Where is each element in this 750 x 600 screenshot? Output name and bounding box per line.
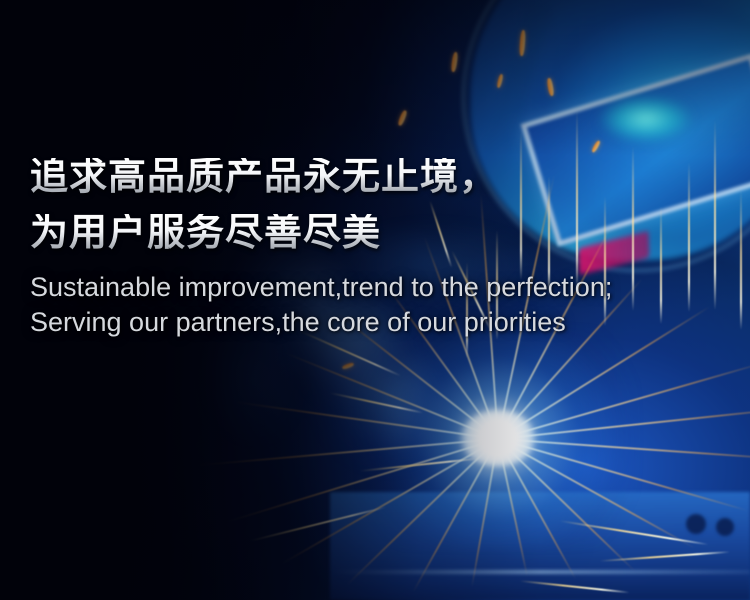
visor-cyan-glow — [600, 96, 692, 142]
headline-cn-line-1: 追求高品质产品永无止境， — [30, 158, 720, 196]
workpiece-hole — [686, 514, 706, 534]
subline-en-line-1: Sustainable improvement,trend to the per… — [30, 270, 720, 305]
welding-arc-icon — [461, 410, 535, 466]
workpiece-highlight-edge — [330, 570, 750, 574]
spark-ember — [397, 110, 408, 127]
spark-ember — [342, 362, 355, 370]
banner-copy-block: 追求高品质产品永无止境， 为用户服务尽善尽美 Sustainable impro… — [30, 158, 720, 340]
workpiece-hole — [716, 518, 734, 536]
spark-ember — [451, 52, 459, 73]
welding-hero-banner: 追求高品质产品永无止境， 为用户服务尽善尽美 Sustainable impro… — [0, 0, 750, 600]
headline-cn-line-2: 为用户服务尽善尽美 — [30, 214, 720, 252]
subline-en-line-2: Serving our partners,the core of our pri… — [30, 305, 720, 340]
